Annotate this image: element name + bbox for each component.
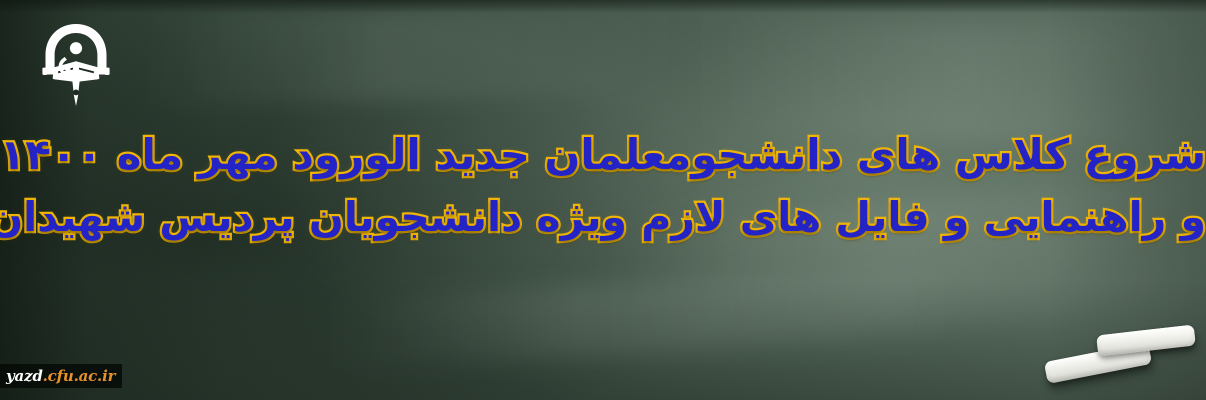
watermark-suffix: .cfu.ac.ir xyxy=(43,369,116,384)
headline-line-2: و راهنمایی و فایل های لازم ویژه دانشجویا… xyxy=(0,186,1206,248)
headline-line-1: شروع کلاس های دانشجومعلمان جدید الورود م… xyxy=(0,124,1206,186)
watermark-prefix: yazd xyxy=(6,369,43,384)
chalkboard-banner: شروع کلاس های دانشجومعلمان جدید الورود م… xyxy=(0,0,1206,400)
farhangian-university-logo-icon xyxy=(40,22,112,108)
site-watermark: yazd .cfu.ac.ir xyxy=(0,364,122,388)
announcement-headline: شروع کلاس های دانشجومعلمان جدید الورود م… xyxy=(0,124,1206,248)
